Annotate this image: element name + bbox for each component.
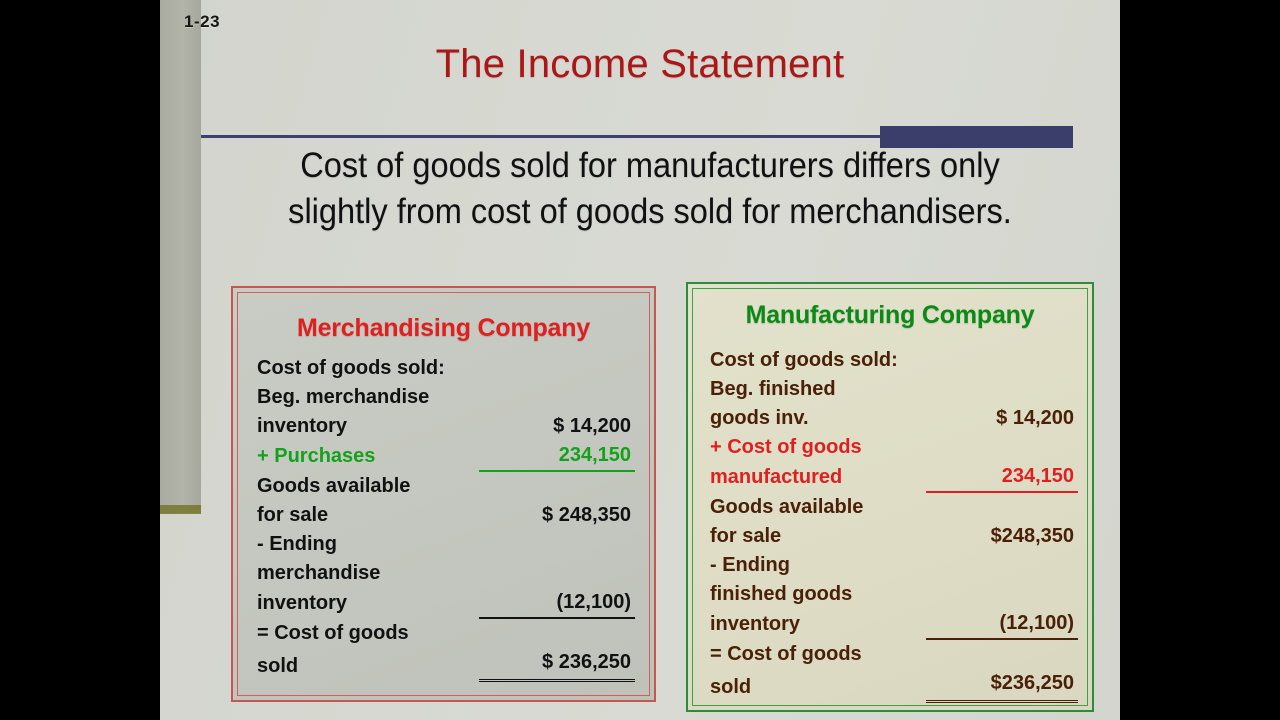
merchandising-row: Beg. merchandise: [257, 383, 635, 412]
manufacturing-row-amount: [926, 580, 1078, 609]
manufacturing-row-label: inventory: [710, 609, 926, 639]
page-title: The Income Statement: [160, 42, 1120, 87]
merchandising-row-amount: $ 248,350: [479, 501, 635, 530]
manufacturing-row: finished goods: [710, 580, 1078, 609]
manufacturing-row-amount: [926, 346, 1078, 375]
manufacturing-cogs-table: Cost of goods sold:Beg. finishedgoods in…: [710, 346, 1078, 703]
merchandising-row-amount: (12,100): [479, 588, 635, 618]
merchandising-row-label: Goods available: [257, 471, 479, 501]
manufacturing-row-amount: (12,100): [926, 609, 1078, 639]
merchandising-row-amount: $ 14,200: [479, 412, 635, 441]
merchandising-row: merchandise: [257, 559, 635, 588]
merchandising-row: + Purchases234,150: [257, 441, 635, 471]
merchandising-row-amount: [479, 471, 635, 501]
manufacturing-row-amount: [926, 433, 1078, 462]
manufacturing-row: - Ending: [710, 551, 1078, 580]
manufacturing-row-label: for sale: [710, 522, 926, 551]
slide-subtitle: Cost of goods sold for manufacturers dif…: [278, 143, 1022, 235]
merchandising-row-label: sold: [257, 648, 479, 681]
merchandising-row-label: - Ending: [257, 530, 479, 559]
title-divider-rule: [201, 135, 881, 138]
manufacturing-row-label: sold: [710, 669, 926, 702]
manufacturing-company-panel: Manufacturing Company Cost of goods sold…: [686, 282, 1094, 712]
manufacturing-panel-heading: Manufacturing Company: [688, 301, 1092, 330]
slide-canvas: 1-23 The Income Statement Cost of goods …: [160, 0, 1120, 720]
merchandising-cogs-table: Cost of goods sold:Beg. merchandiseinven…: [257, 354, 635, 682]
merchandising-row-label: merchandise: [257, 559, 479, 588]
merchandising-row-amount: [479, 618, 635, 648]
manufacturing-row-amount: $248,350: [926, 522, 1078, 551]
merchandising-company-panel: Merchandising Company Cost of goods sold…: [231, 286, 656, 702]
manufacturing-row: Cost of goods sold:: [710, 346, 1078, 375]
manufacturing-row: goods inv.$ 14,200: [710, 404, 1078, 433]
manufacturing-row: Beg. finished: [710, 375, 1078, 404]
manufacturing-row-amount: [926, 551, 1078, 580]
manufacturing-row: sold$236,250: [710, 669, 1078, 702]
manufacturing-row-label: = Cost of goods: [710, 639, 926, 669]
merchandising-row-amount: $ 236,250: [479, 648, 635, 681]
merchandising-row: - Ending: [257, 530, 635, 559]
merchandising-row-label: + Purchases: [257, 441, 479, 471]
manufacturing-row-label: Beg. finished: [710, 375, 926, 404]
manufacturing-row-amount: [926, 639, 1078, 669]
merchandising-row-amount: [479, 354, 635, 383]
merchandising-row-label: inventory: [257, 412, 479, 441]
manufacturing-row: + Cost of goods: [710, 433, 1078, 462]
manufacturing-row-amount: $ 14,200: [926, 404, 1078, 433]
manufacturing-row: for sale$248,350: [710, 522, 1078, 551]
manufacturing-row-label: manufactured: [710, 462, 926, 492]
slide-number: 1-23: [184, 12, 220, 32]
merchandising-row-label: Cost of goods sold:: [257, 354, 479, 383]
merchandising-row-label: = Cost of goods: [257, 618, 479, 648]
manufacturing-row-label: - Ending: [710, 551, 926, 580]
manufacturing-row: manufactured234,150: [710, 462, 1078, 492]
merchandising-row-amount: [479, 530, 635, 559]
merchandising-row: Cost of goods sold:: [257, 354, 635, 383]
merchandising-row-amount: [479, 559, 635, 588]
merchandising-row: for sale$ 248,350: [257, 501, 635, 530]
manufacturing-row: Goods available: [710, 492, 1078, 522]
manufacturing-row-label: goods inv.: [710, 404, 926, 433]
manufacturing-row-label: + Cost of goods: [710, 433, 926, 462]
merchandising-row: Goods available: [257, 471, 635, 501]
manufacturing-row: = Cost of goods: [710, 639, 1078, 669]
manufacturing-row-amount: [926, 492, 1078, 522]
manufacturing-row-amount: $236,250: [926, 669, 1078, 702]
merchandising-row: inventory$ 14,200: [257, 412, 635, 441]
merchandising-row-label: inventory: [257, 588, 479, 618]
left-band-accent: [160, 505, 201, 514]
manufacturing-row-amount: [926, 375, 1078, 404]
merchandising-row-amount: 234,150: [479, 441, 635, 471]
manufacturing-row-label: Goods available: [710, 492, 926, 522]
merchandising-panel-heading: Merchandising Company: [233, 314, 654, 343]
merchandising-row: sold$ 236,250: [257, 648, 635, 681]
slide-viewer: 1-23 The Income Statement Cost of goods …: [0, 0, 1280, 720]
merchandising-row: = Cost of goods: [257, 618, 635, 648]
merchandising-row-label: for sale: [257, 501, 479, 530]
merchandising-row-label: Beg. merchandise: [257, 383, 479, 412]
merchandising-row-amount: [479, 383, 635, 412]
manufacturing-row-label: Cost of goods sold:: [710, 346, 926, 375]
merchandising-row: inventory(12,100): [257, 588, 635, 618]
manufacturing-row: inventory(12,100): [710, 609, 1078, 639]
manufacturing-row-label: finished goods: [710, 580, 926, 609]
manufacturing-row-amount: 234,150: [926, 462, 1078, 492]
